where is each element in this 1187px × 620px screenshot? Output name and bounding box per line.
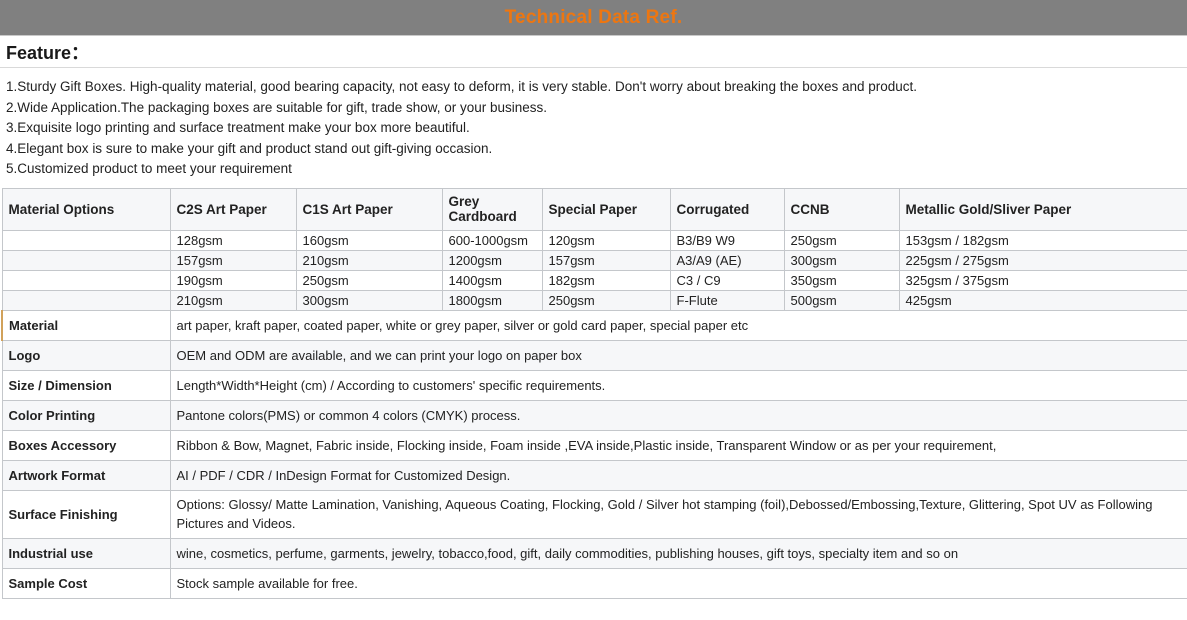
cell-special-paper: 250gsm: [542, 290, 670, 310]
table-row: 128gsm 160gsm 600-1000gsm 120gsm B3/B9 W…: [2, 230, 1187, 250]
cell-c1s: 300gsm: [296, 290, 442, 310]
cell-special-paper: 120gsm: [542, 230, 670, 250]
cell-material-options: [2, 230, 170, 250]
spec-label-surface-finishing: Surface Finishing: [2, 490, 170, 538]
cell-grey-cardboard: 1200gsm: [442, 250, 542, 270]
table-row: 210gsm 300gsm 1800gsm 250gsm F-Flute 500…: [2, 290, 1187, 310]
spec-label-logo: Logo: [2, 340, 170, 370]
spec-row-sample-cost: Sample Cost Stock sample available for f…: [2, 568, 1187, 598]
spec-value-material: art paper, kraft paper, coated paper, wh…: [170, 310, 1187, 340]
column-header-material-options: Material Options: [2, 188, 170, 230]
spec-value-color-printing: Pantone colors(PMS) or common 4 colors (…: [170, 400, 1187, 430]
cell-special-paper: 182gsm: [542, 270, 670, 290]
cell-grey-cardboard: 1800gsm: [442, 290, 542, 310]
spec-label-boxes-accessory: Boxes Accessory: [2, 430, 170, 460]
spec-value-boxes-accessory: Ribbon & Bow, Magnet, Fabric inside, Flo…: [170, 430, 1187, 460]
cell-c2s: 128gsm: [170, 230, 296, 250]
spec-value-industrial-use: wine, cosmetics, perfume, garments, jewe…: [170, 538, 1187, 568]
spec-row-size-dimension: Size / Dimension Length*Width*Height (cm…: [2, 370, 1187, 400]
cell-ccnb: 500gsm: [784, 290, 899, 310]
cell-c2s: 210gsm: [170, 290, 296, 310]
specification-table: Material Options C2S Art Paper C1S Art P…: [1, 188, 1187, 599]
column-header-c1s-art-paper: C1S Art Paper: [296, 188, 442, 230]
cell-c1s: 250gsm: [296, 270, 442, 290]
cell-corrugated: B3/B9 W9: [670, 230, 784, 250]
cell-ccnb: 350gsm: [784, 270, 899, 290]
technical-data-sheet: Technical Data Ref. Feature： 1.Sturdy Gi…: [0, 0, 1187, 620]
cell-material-options: [2, 250, 170, 270]
cell-grey-cardboard: 600-1000gsm: [442, 230, 542, 250]
spec-row-boxes-accessory: Boxes Accessory Ribbon & Bow, Magnet, Fa…: [2, 430, 1187, 460]
cell-material-options: [2, 270, 170, 290]
cell-corrugated: F-Flute: [670, 290, 784, 310]
spec-label-artwork-format: Artwork Format: [2, 460, 170, 490]
cell-metallic: 325gsm / 375gsm: [899, 270, 1187, 290]
cell-ccnb: 250gsm: [784, 230, 899, 250]
spec-label-material: Material: [2, 310, 170, 340]
table-row: 157gsm 210gsm 1200gsm 157gsm A3/A9 (AE) …: [2, 250, 1187, 270]
column-header-ccnb: CCNB: [784, 188, 899, 230]
cell-metallic: 425gsm: [899, 290, 1187, 310]
cell-metallic: 225gsm / 275gsm: [899, 250, 1187, 270]
spec-label-size-dimension: Size / Dimension: [2, 370, 170, 400]
spec-label-industrial-use: Industrial use: [2, 538, 170, 568]
column-header-corrugated: Corrugated: [670, 188, 784, 230]
cell-c2s: 190gsm: [170, 270, 296, 290]
material-table-header-row: Material Options C2S Art Paper C1S Art P…: [2, 188, 1187, 230]
spec-row-surface-finishing: Surface Finishing Options: Glossy/ Matte…: [2, 490, 1187, 538]
spec-value-size-dimension: Length*Width*Height (cm) / According to …: [170, 370, 1187, 400]
page-title: Technical Data Ref.: [505, 7, 683, 29]
cell-corrugated: A3/A9 (AE): [670, 250, 784, 270]
spec-row-color-printing: Color Printing Pantone colors(PMS) or co…: [2, 400, 1187, 430]
spec-label-color-printing: Color Printing: [2, 400, 170, 430]
cell-c2s: 157gsm: [170, 250, 296, 270]
cell-metallic: 153gsm / 182gsm: [899, 230, 1187, 250]
column-header-grey-cardboard: Grey Cardboard: [442, 188, 542, 230]
feature-item: 4.Elegant box is sure to make your gift …: [6, 139, 1187, 160]
table-row: 190gsm 250gsm 1400gsm 182gsm C3 / C9 350…: [2, 270, 1187, 290]
spec-value-surface-finishing: Options: Glossy/ Matte Lamination, Vanis…: [170, 490, 1187, 538]
cell-c1s: 160gsm: [296, 230, 442, 250]
spec-value-logo: OEM and ODM are available, and we can pr…: [170, 340, 1187, 370]
spec-label-sample-cost: Sample Cost: [2, 568, 170, 598]
column-header-special-paper: Special Paper: [542, 188, 670, 230]
feature-item: 1.Sturdy Gift Boxes. High-quality materi…: [6, 77, 1187, 98]
cell-c1s: 210gsm: [296, 250, 442, 270]
spec-value-artwork-format: AI / PDF / CDR / InDesign Format for Cus…: [170, 460, 1187, 490]
feature-item: 3.Exquisite logo printing and surface tr…: [6, 118, 1187, 139]
spec-row-industrial-use: Industrial use wine, cosmetics, perfume,…: [2, 538, 1187, 568]
cell-grey-cardboard: 1400gsm: [442, 270, 542, 290]
title-bar: Technical Data Ref.: [0, 0, 1187, 36]
cell-corrugated: C3 / C9: [670, 270, 784, 290]
column-header-metallic-gold-sliver-paper: Metallic Gold/Sliver Paper: [899, 188, 1187, 230]
spec-row-logo: Logo OEM and ODM are available, and we c…: [2, 340, 1187, 370]
cell-special-paper: 157gsm: [542, 250, 670, 270]
column-header-c2s-art-paper: C2S Art Paper: [170, 188, 296, 230]
feature-item: 5.Customized product to meet your requir…: [6, 159, 1187, 180]
feature-heading-label: Feature：: [6, 39, 89, 65]
spec-row-material: Material art paper, kraft paper, coated …: [2, 310, 1187, 340]
spec-row-artwork-format: Artwork Format AI / PDF / CDR / InDesign…: [2, 460, 1187, 490]
cell-material-options: [2, 290, 170, 310]
feature-item: 2.Wide Application.The packaging boxes a…: [6, 98, 1187, 119]
spec-value-sample-cost: Stock sample available for free.: [170, 568, 1187, 598]
cell-ccnb: 300gsm: [784, 250, 899, 270]
feature-heading: Feature：: [0, 36, 1187, 68]
feature-list: 1.Sturdy Gift Boxes. High-quality materi…: [0, 68, 1187, 188]
